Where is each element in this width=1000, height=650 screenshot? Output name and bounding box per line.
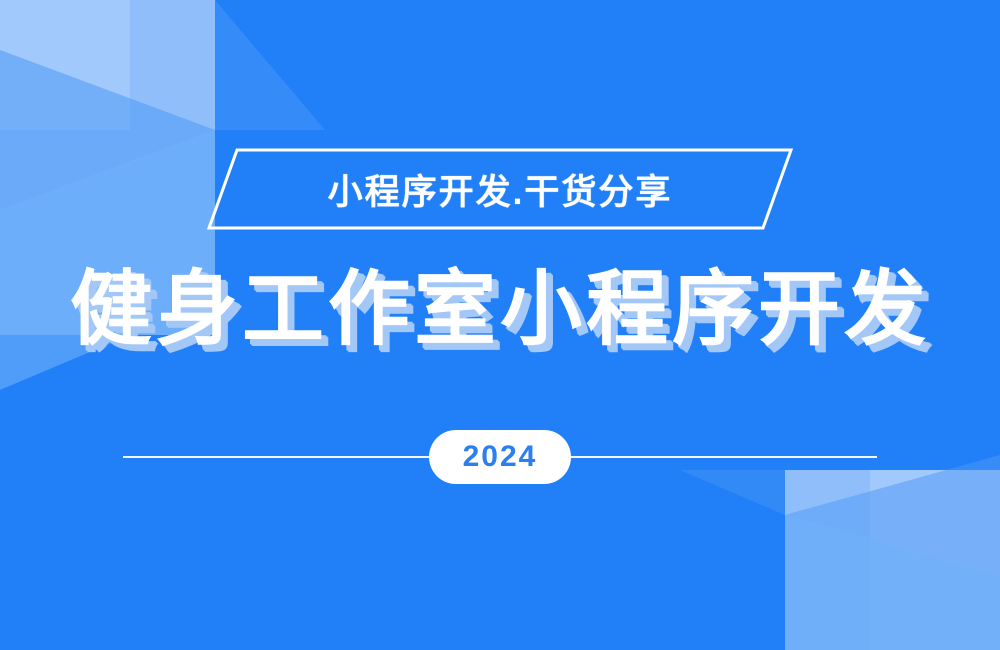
deco-panel-bottom-right [785, 470, 1000, 650]
deco-triangle-top-mid [215, 0, 325, 130]
deco-block-top-left-light [0, 0, 130, 130]
subtitle-banner: 小程序开发.干货分享 [205, 146, 795, 232]
deco-wedge-right-lower [785, 515, 1000, 650]
subtitle-text: 小程序开发.干货分享 [205, 146, 795, 232]
divider-line-right [567, 456, 877, 458]
divider-line-left [123, 456, 433, 458]
year-row: 2024 [0, 430, 1000, 484]
deco-block-bottom-right-light [870, 470, 1000, 650]
page-title: 健身工作室小程序开发 [0, 258, 1000, 362]
poster-canvas: 小程序开发.干货分享 健身工作室小程序开发 2024 [0, 0, 1000, 650]
year-badge: 2024 [429, 430, 571, 484]
deco-wedge-left-upper [0, 50, 215, 210]
